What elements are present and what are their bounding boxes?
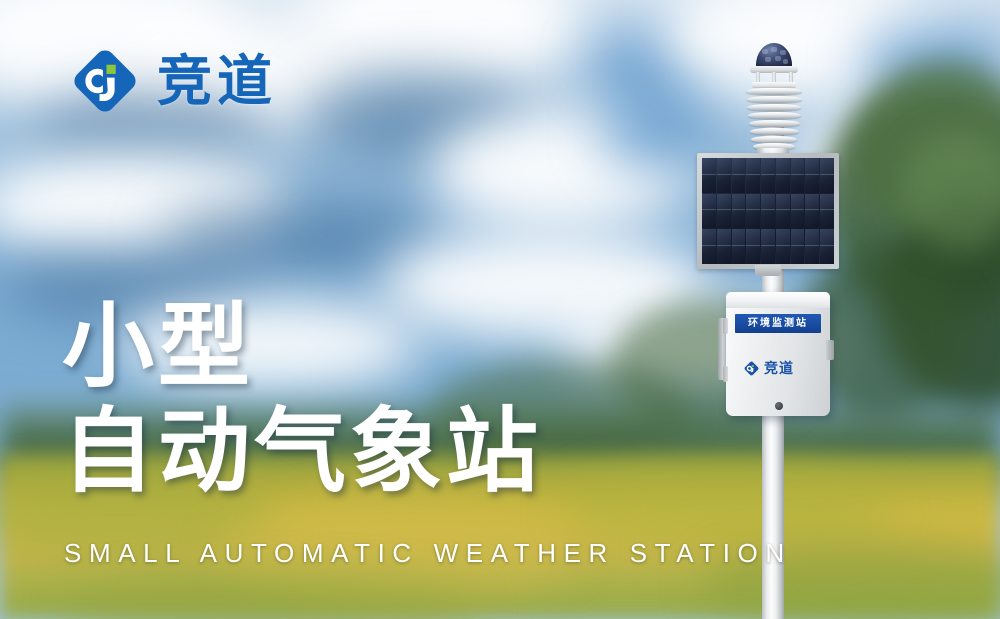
jingdao-diamond-logo-icon [68, 44, 142, 118]
control-box-logo: 竞道 [743, 360, 794, 377]
page-title: 小型 自动气象站 [62, 298, 542, 500]
control-box-hinge [723, 318, 728, 334]
subtitle: SMALL AUTOMATIC WEATHER STATION [64, 538, 792, 569]
title-line-2: 自动气象站 [62, 403, 542, 501]
control-box-lid [726, 292, 830, 308]
control-box: 环境监测站 竞道 [726, 292, 830, 416]
control-box-screw [775, 402, 783, 410]
solar-panel-mount [755, 265, 781, 276]
control-box-banner-label: 环境监测站 [748, 319, 808, 329]
brand-name: 竞道 [157, 54, 277, 109]
control-box-hinge [723, 366, 728, 382]
control-box-latch [826, 340, 834, 360]
brand-logo[interactable]: 竞道 [68, 44, 277, 118]
control-box-banner: 环境监测站 [735, 314, 821, 333]
control-box-logo-label: 竞道 [764, 362, 794, 376]
solar-panel-icon [697, 153, 839, 269]
title-line-1: 小型 [62, 298, 542, 396]
radiation-shield-icon [746, 88, 802, 150]
jingdao-diamond-logo-icon [743, 360, 760, 377]
product-banner: 环境监测站 竞道 [0, 0, 1000, 619]
